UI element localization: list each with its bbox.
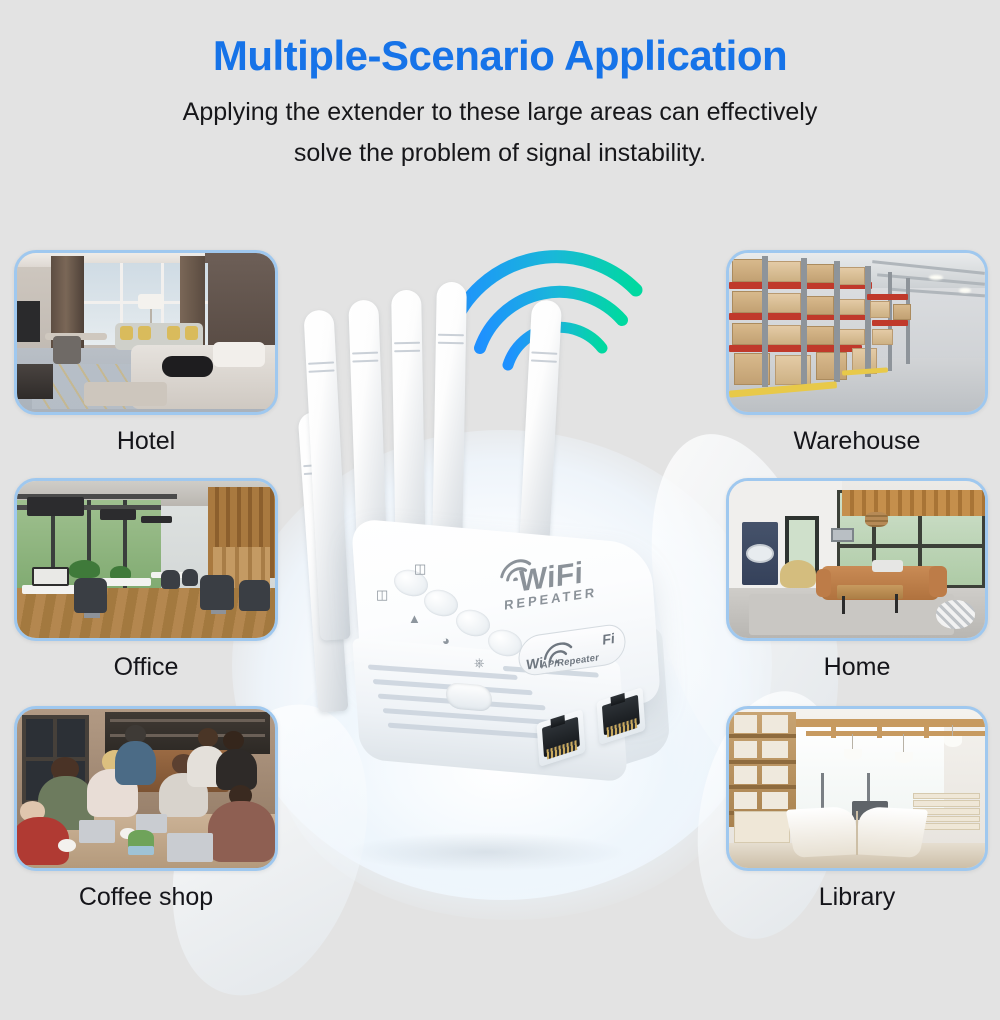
scenario-card-hotel[interactable]: Hotel xyxy=(14,250,278,415)
scenario-label-office: Office xyxy=(14,653,278,682)
page-subtitle: Applying the extender to these large are… xyxy=(0,92,1000,173)
scenario-image-hotel xyxy=(14,250,278,415)
scenario-card-home[interactable]: Home xyxy=(726,478,988,641)
scenario-label-library: Library xyxy=(726,883,988,912)
wifi-repeater-device: ◫ ◫ ▲ ◕ ⎈ WiFi REPEATER Wi Fi AP/Repeate… xyxy=(246,232,746,882)
open-book-illustration xyxy=(790,808,923,856)
device-shadow xyxy=(346,832,626,872)
home-scene-illustration xyxy=(729,481,985,638)
scenario-label-hotel: Hotel xyxy=(14,427,278,456)
scenario-label-coffeeshop: Coffee shop xyxy=(14,883,278,912)
office-scene-illustration xyxy=(17,481,275,638)
power-icon: ⎈ xyxy=(474,656,484,669)
subtitle-line-2: solve the problem of signal instability. xyxy=(0,133,1000,174)
scenario-card-office[interactable]: Office xyxy=(14,478,278,641)
subtitle-line-1: Applying the extender to these large are… xyxy=(0,92,1000,133)
coffeeshop-scene-illustration xyxy=(17,709,275,868)
header: Multiple-Scenario Application Applying t… xyxy=(0,0,1000,210)
scenario-image-office xyxy=(14,478,278,641)
library-scene-illustration xyxy=(729,709,985,868)
signal-icon: ▲ xyxy=(408,612,421,625)
scenario-card-coffeeshop[interactable]: Coffee shop xyxy=(14,706,278,871)
sticker-fi-text: Fi xyxy=(602,630,615,648)
scenario-image-home xyxy=(726,478,988,641)
warehouse-scene-illustration xyxy=(729,253,985,412)
ethernet-icon-2: ◫ xyxy=(414,562,426,575)
scenario-image-coffeeshop xyxy=(14,706,278,871)
scenario-image-warehouse xyxy=(726,250,988,415)
wifi-icon: ◕ xyxy=(442,634,450,647)
hotel-scene-illustration xyxy=(17,253,275,412)
scenario-label-warehouse: Warehouse xyxy=(726,427,988,456)
scenario-label-home: Home xyxy=(726,653,988,682)
ethernet-icon: ◫ xyxy=(376,588,388,601)
page-title: Multiple-Scenario Application xyxy=(0,34,1000,78)
scenario-card-warehouse[interactable]: Warehouse xyxy=(726,250,988,415)
scenario-card-library[interactable]: Library xyxy=(726,706,988,871)
scenario-image-library xyxy=(726,706,988,871)
